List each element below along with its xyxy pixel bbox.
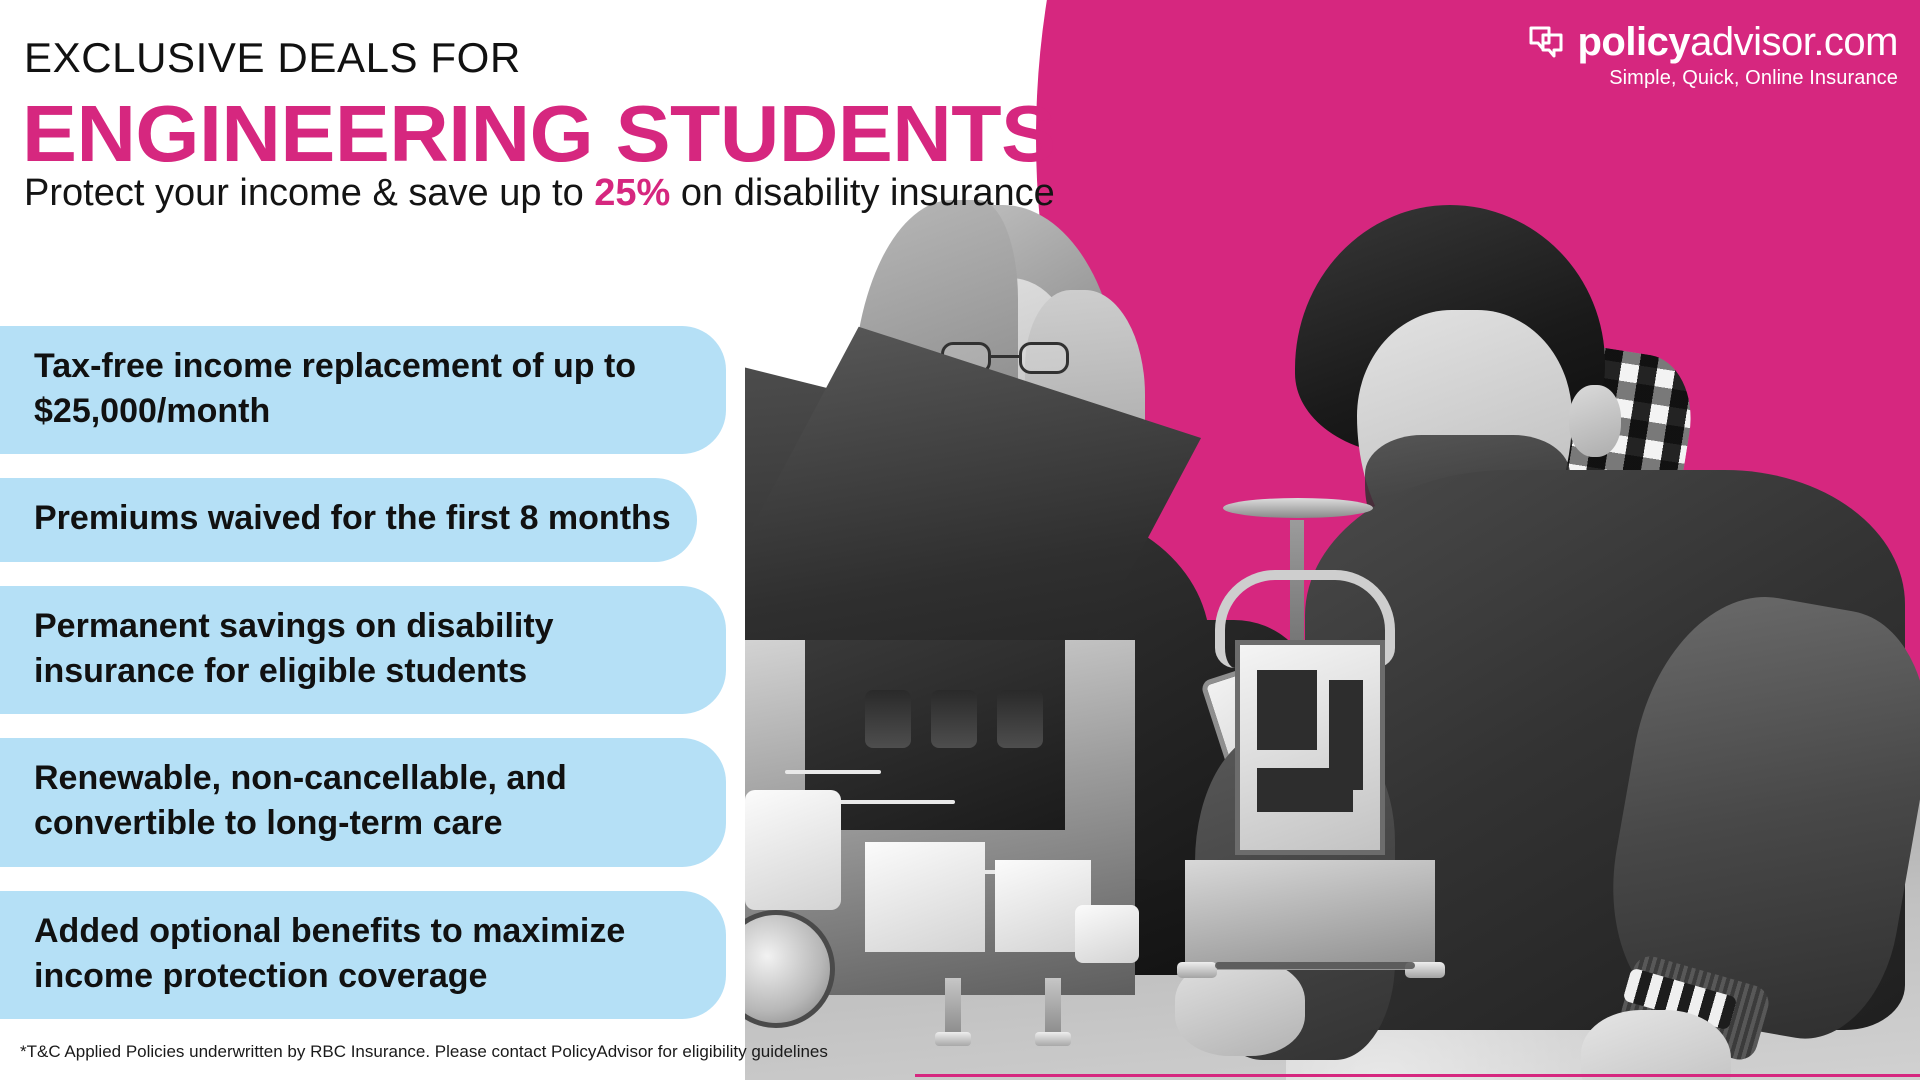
subheadline-suffix: on disability insurance (670, 172, 1054, 214)
robot-left-leg-2 (1045, 978, 1061, 1034)
robot-left-roller-3 (997, 690, 1043, 748)
logo-row: policyadvisor.com (1527, 22, 1898, 62)
logo-word-bold: policy (1577, 20, 1690, 64)
page-title: ENGINEERING STUDENTS (22, 88, 1056, 180)
robot-left-foot-1 (935, 1032, 971, 1046)
logo-tagline: Simple, Quick, Online Insurance (1609, 67, 1898, 90)
policyadvisor-logo[interactable]: policyadvisor.com Simple, Quick, Online … (1527, 22, 1898, 90)
logo-wordmark: policyadvisor.com (1577, 22, 1898, 62)
robot-right-chip-3 (1257, 768, 1353, 812)
benefits-list: Tax-free income replacement of up to $25… (0, 326, 760, 1019)
robot-right-foot-1 (1177, 962, 1217, 978)
kicker-text: EXCLUSIVE DEALS FOR (24, 34, 521, 82)
list-item: Added optional benefits to maximize inco… (0, 891, 726, 1019)
subheadline: Protect your income & save up to 25% on … (24, 172, 1055, 215)
robot-left-leg-1 (945, 978, 961, 1034)
robot-left-white-part-2 (865, 842, 985, 952)
subheadline-prefix: Protect your income & save up to (24, 172, 594, 214)
robot-left-roller-1 (865, 690, 911, 748)
chat-bubbles-icon (1527, 23, 1565, 61)
banner-canvas: policyadvisor.com Simple, Quick, Online … (0, 0, 1920, 1080)
robot-right-pink-accent (1215, 962, 1415, 969)
robot-left-foot-2 (1035, 1032, 1071, 1046)
robot-left-white-part-4 (1075, 905, 1139, 963)
robot-right-dish (1223, 498, 1373, 518)
robot-left-roller-2 (931, 690, 977, 748)
robot-right-base (1185, 860, 1435, 970)
bottom-pink-rule (915, 1074, 1920, 1077)
list-item: Renewable, non-cancellable, and converti… (0, 738, 726, 866)
disclaimer-text: *T&C Applied Policies underwritten by RB… (20, 1042, 828, 1062)
list-item: Permanent savings on disability insuranc… (0, 586, 726, 714)
robot-left-wire-1 (785, 770, 881, 774)
person-male-ear (1569, 385, 1621, 457)
hero-photo-grayscale-layer (745, 170, 1920, 1080)
robot-right-chip-1 (1257, 670, 1317, 750)
list-item: Tax-free income replacement of up to $25… (0, 326, 726, 454)
logo-word-light: advisor.com (1690, 20, 1898, 64)
list-item: Premiums waived for the first 8 months (0, 478, 697, 561)
hero-photo (745, 170, 1920, 1080)
discount-highlight: 25% (594, 172, 670, 214)
